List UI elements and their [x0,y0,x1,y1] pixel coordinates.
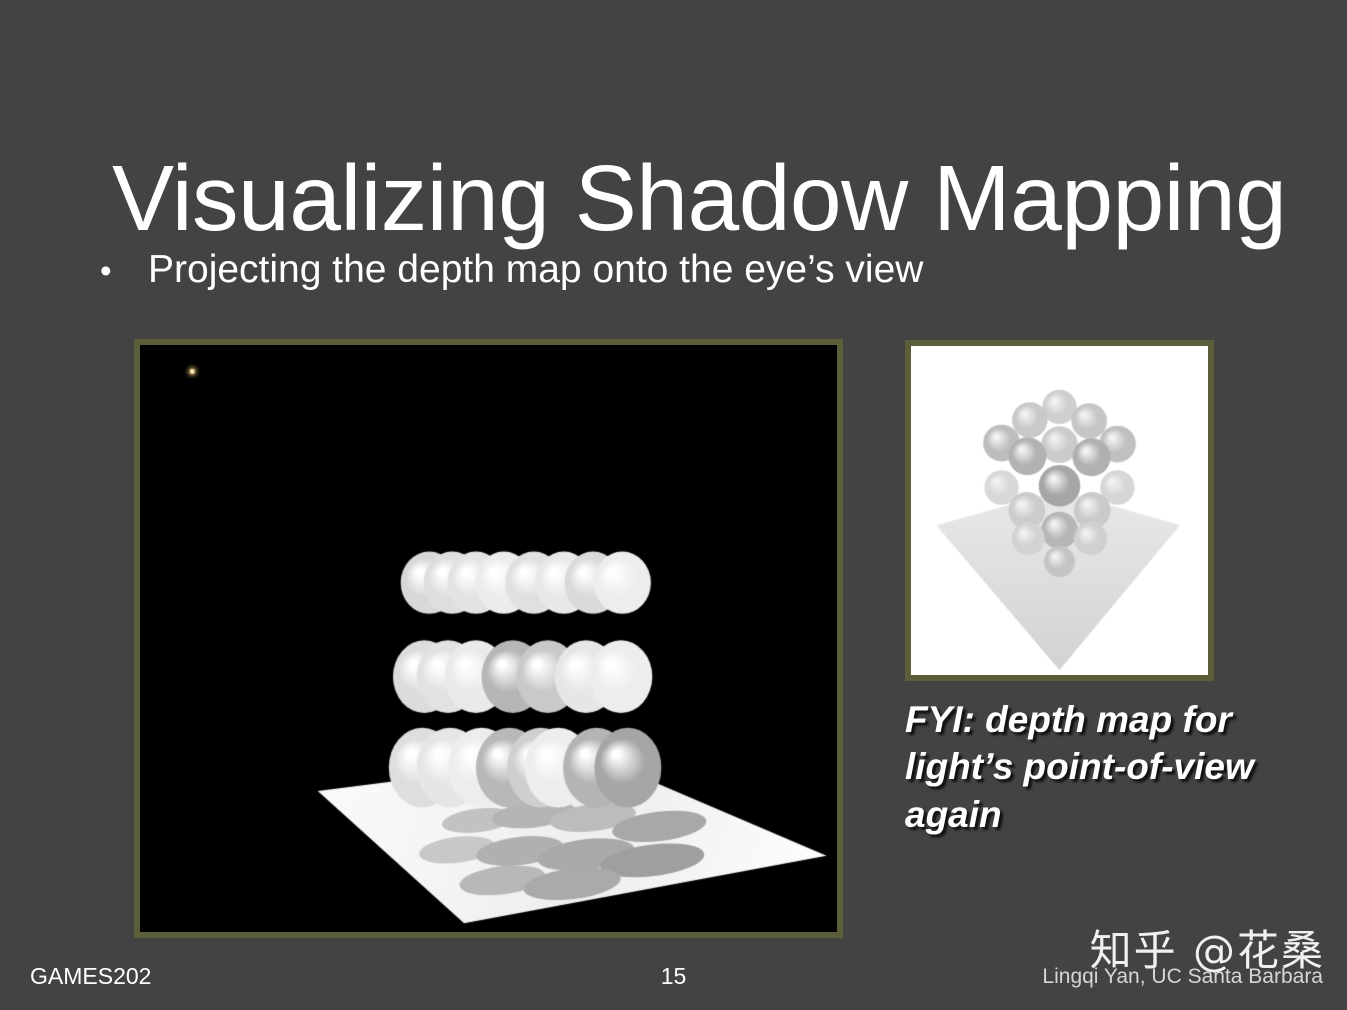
eye-view-render [140,345,837,932]
slide-canvas: Visualizing Shadow Mapping • Projecting … [0,0,1347,1010]
light-view-render [911,346,1208,675]
footer-author-label: Lingqi Yan, UC Santa Barbara [1042,965,1323,989]
figure-caption: FYI: depth map for light’s point-of-view… [905,696,1345,838]
bullet-item: • Projecting the depth map onto the eye’… [100,248,923,292]
bullet-text: Projecting the depth map onto the eye’s … [148,248,923,292]
page-title: Visualizing Shadow Mapping [112,150,1272,248]
light-view-depth-figure [905,340,1214,681]
eye-view-depth-figure [134,339,843,938]
bullet-marker-icon: • [100,254,148,287]
